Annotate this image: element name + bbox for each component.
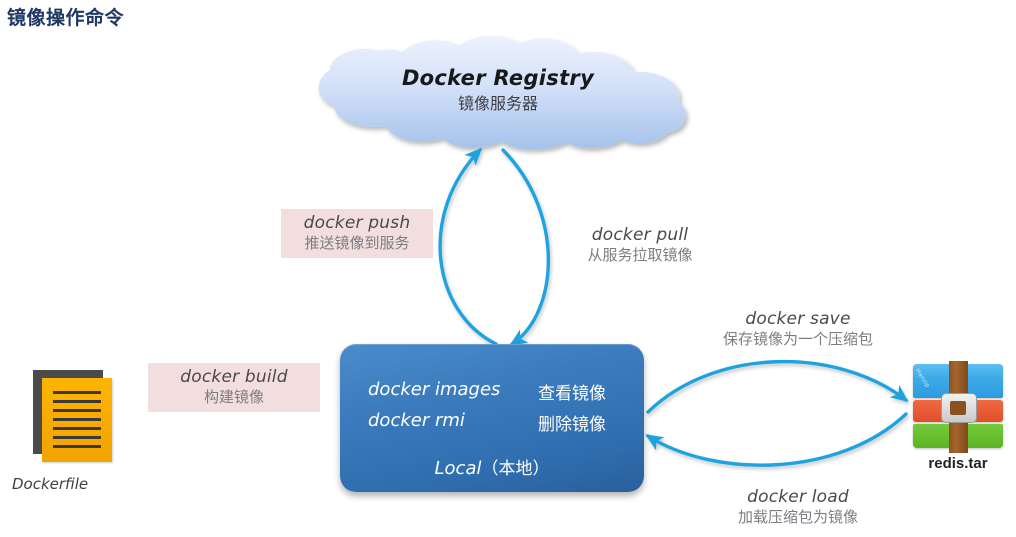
arrow-pull [503, 150, 548, 344]
archive-icon: Hanzip [913, 364, 1003, 452]
local-box[interactable]: docker images 查看镜像 docker rmi 删除镜像 Local… [340, 344, 644, 492]
registry-title: Docker Registry [348, 66, 648, 90]
local-label-cn: （本地） [481, 459, 549, 479]
local-description-rmi: 删除镜像 [538, 410, 606, 435]
local-label: Local（本地） [340, 454, 644, 479]
callout-save-command: docker save [688, 310, 908, 330]
arrow-save [648, 362, 906, 412]
callout-pull-command: docker pull [556, 226, 724, 246]
callout-save-description: 保存镜像为一个压缩包 [688, 331, 908, 348]
callout-load-command: docker load [688, 488, 908, 508]
callout-docker-load: docker load 加载压缩包为镜像 [688, 488, 908, 526]
arrow-push [440, 150, 496, 344]
local-command-rmi: docker rmi [368, 410, 465, 431]
callout-docker-build: docker build 构建镜像 [148, 363, 320, 412]
callout-pull-description: 从服务拉取镜像 [556, 247, 724, 264]
document-front-page [42, 378, 112, 462]
callout-load-description: 加载压缩包为镜像 [688, 509, 908, 526]
callout-build-command: docker build [154, 368, 314, 388]
local-command-images: docker images [368, 379, 500, 400]
registry-subtitle: 镜像服务器 [348, 90, 648, 114]
callout-docker-save: docker save 保存镜像为一个压缩包 [688, 310, 908, 348]
callout-push-command: docker push [287, 214, 427, 234]
archive-label: redis.tar [903, 455, 1013, 472]
arrow-load [648, 414, 906, 465]
callout-build-description: 构建镜像 [154, 389, 314, 406]
dockerfile-icon [25, 370, 117, 464]
callout-docker-push: docker push 推送镜像到服务 [281, 209, 433, 258]
diagram-canvas: 镜像操作命令 [0, 0, 1016, 537]
archive-buckle [941, 393, 977, 423]
callout-docker-pull: docker pull 从服务拉取镜像 [556, 226, 724, 264]
local-description-images: 查看镜像 [538, 379, 606, 404]
callout-push-description: 推送镜像到服务 [287, 235, 427, 252]
dockerfile-label: Dockerfile [12, 475, 132, 493]
local-label-en: Local [435, 458, 482, 479]
